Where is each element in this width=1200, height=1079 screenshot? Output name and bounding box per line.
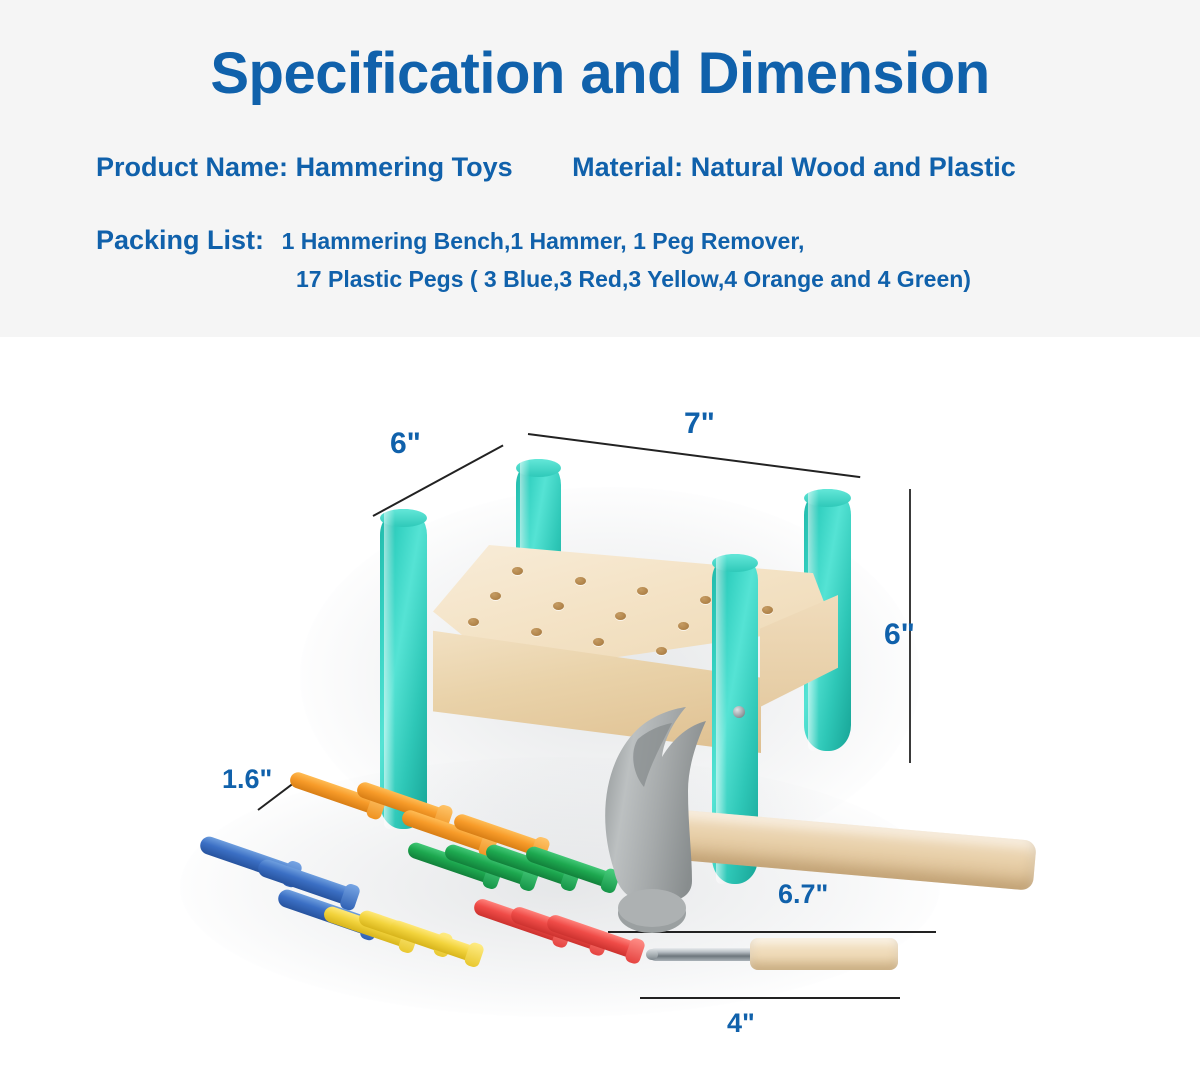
peg-remover-rod <box>650 948 756 961</box>
specification-page: Specification and Dimension Product Name… <box>0 0 1200 1079</box>
page-title: Specification and Dimension <box>0 44 1200 105</box>
material-label: Material: <box>572 152 683 182</box>
material-value: Natural Wood and Plastic <box>691 152 1016 182</box>
packing-list-row: Packing List: 1 Hammering Bench,1 Hammer… <box>96 225 804 256</box>
packing-list-line-2: 17 Plastic Pegs ( 3 Blue,3 Red,3 Yellow,… <box>296 266 971 293</box>
peg-remover-tip <box>646 949 658 960</box>
product-material-row: Product Name: Hammering Toys Material: N… <box>96 152 1016 183</box>
peg-remover <box>0 337 1200 1079</box>
product-photo-stage: 6" 7" 6" 1.6" <box>0 337 1200 1079</box>
peg-remover-handle <box>750 938 898 970</box>
product-name-value: Hammering Toys <box>296 152 513 182</box>
packing-list-line-1: 1 Hammering Bench,1 Hammer, 1 Peg Remove… <box>282 228 805 254</box>
spec-header-band: Specification and Dimension Product Name… <box>0 0 1200 337</box>
packing-list-label: Packing List: <box>96 225 264 255</box>
product-name-label: Product Name: <box>96 152 288 182</box>
